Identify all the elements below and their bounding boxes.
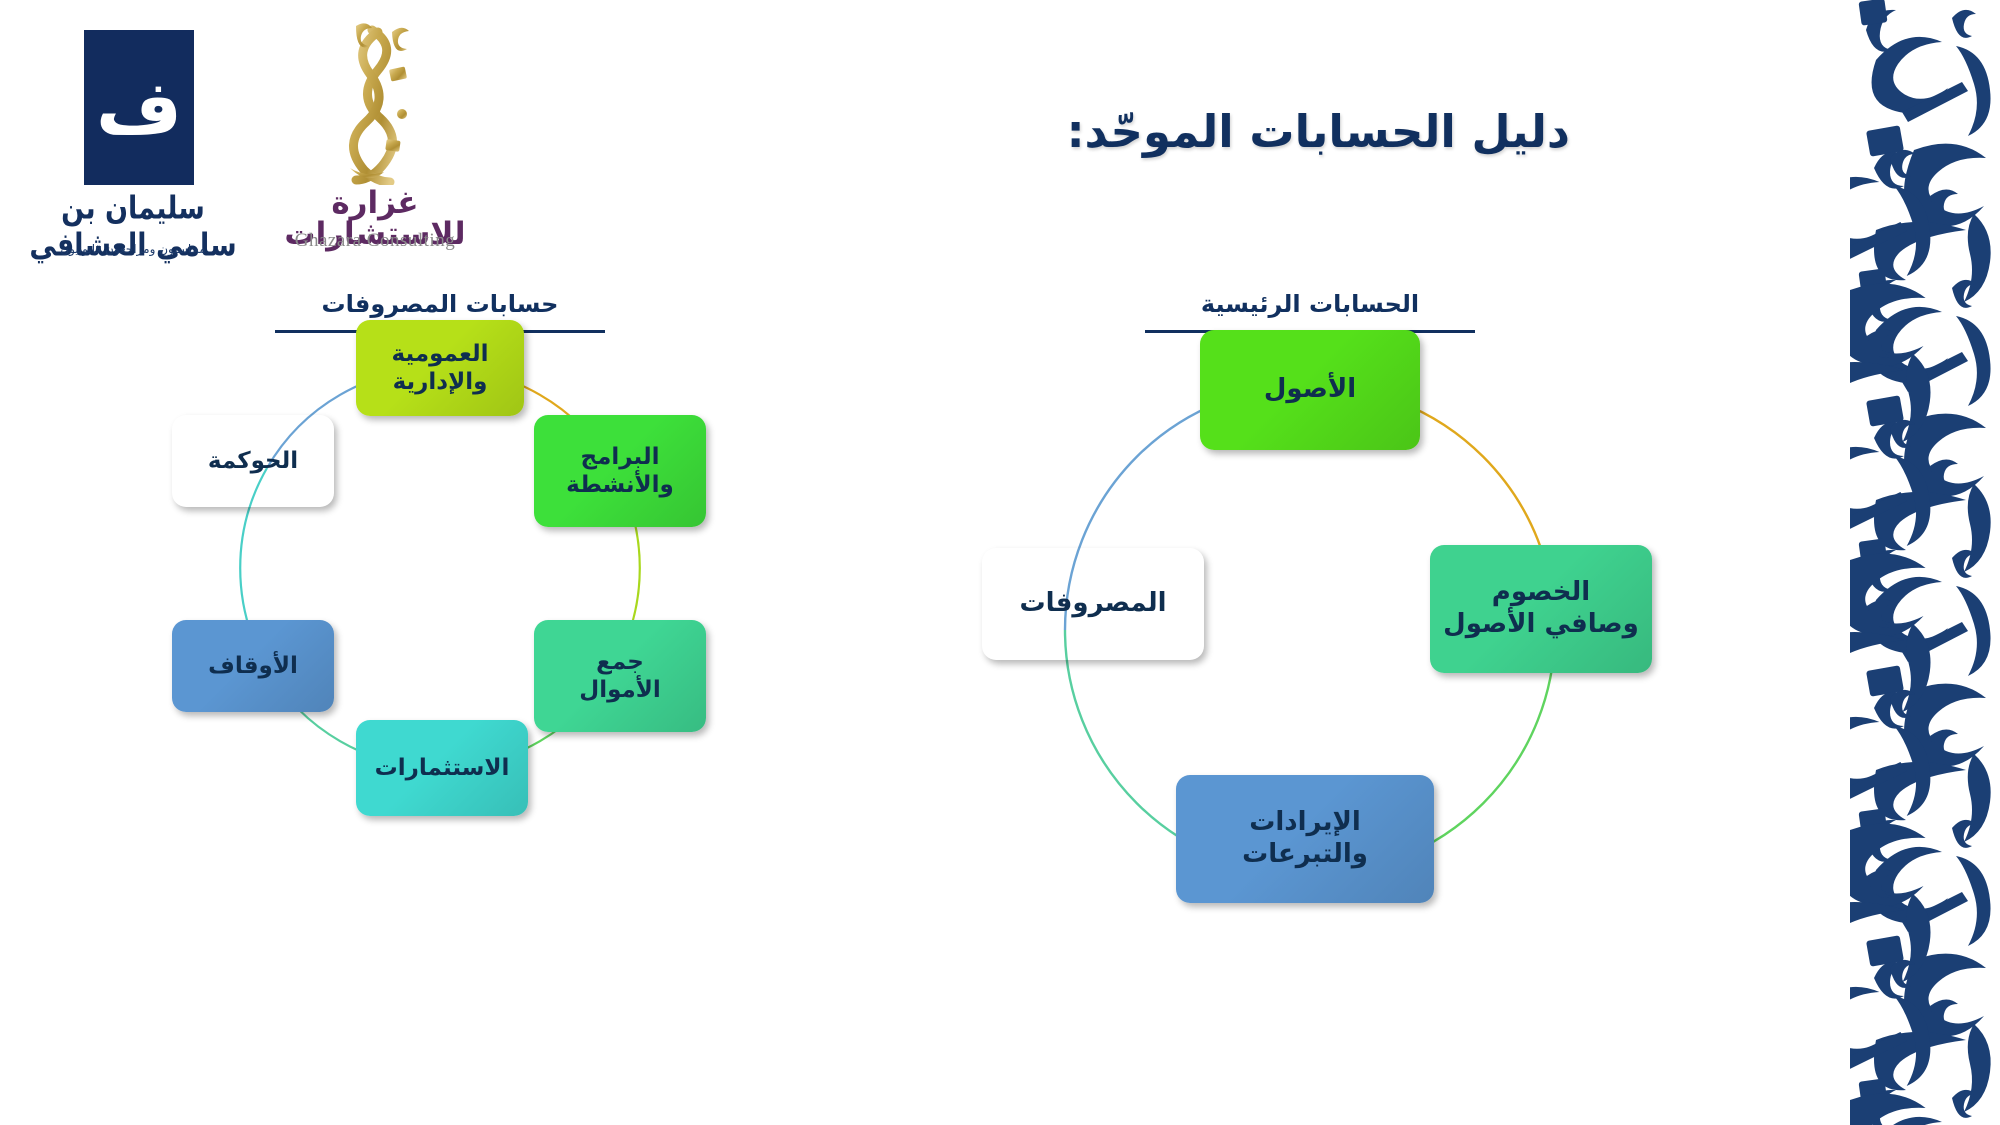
page-title: دليل الحسابات الموحّد: [1067,105,1570,158]
diagram-expense-accounts-header-text: حسابات المصروفات [322,290,559,324]
node-endowments-label: الأوقاف [208,652,298,680]
al-ashafi-name-subtitle: محاسبون ومراجعون قانونيون [18,242,248,256]
decorative-calligraphy-band [1850,0,2000,1125]
node-liabilities-label: الخصوموصافي الأصول [1443,577,1639,640]
logo-ghazara-consulting: غزارة للاستشارات Ghazara Consulting [250,20,500,280]
node-governance[interactable]: الحوكمة [172,415,334,507]
diagram-main-accounts: الحسابات الرئيسية الأصول الخصوموصافي الأ… [950,290,1670,930]
node-programs-label: البرامجوالأنشطة [566,443,674,499]
diagram-main-accounts-header-text: الحسابات الرئيسية [1201,290,1419,324]
node-fundraising-label: جمعالأموال [579,648,661,704]
node-fundraising[interactable]: جمعالأموال [534,620,706,732]
node-assets-label: الأصول [1264,374,1356,406]
node-investments[interactable]: الاستثمارات [356,720,528,816]
node-expenses[interactable]: المصروفات [982,548,1204,660]
node-investments-label: الاستثمارات [375,754,510,782]
al-ashafi-logo-mark: ف [84,30,194,185]
diagram-expense-accounts: حسابات المصروفات العموميةوالإدارية البرا… [130,290,750,930]
node-programs[interactable]: البرامجوالأنشطة [534,415,706,527]
calligraphy-pattern-svg [1850,0,2000,1125]
ghazara-emblem-svg [310,20,440,185]
node-expenses-label: المصروفات [1020,588,1167,620]
node-liabilities[interactable]: الخصوموصافي الأصول [1430,545,1652,673]
node-governance-label: الحوكمة [208,447,298,475]
node-revenues[interactable]: الإيراداتوالتبرعات [1176,775,1434,903]
ghazara-name-english: Ghazara Consulting [250,230,500,252]
diagram-main-accounts-header: الحسابات الرئيسية [950,290,1670,333]
logo-al-ashafi: ف سليمان بن سامي العشافي محاسبون ومراجعو… [18,18,248,293]
node-endowments[interactable]: الأوقاف [172,620,334,712]
node-general-admin-label: العموميةوالإدارية [392,340,489,396]
node-general-admin[interactable]: العموميةوالإدارية [356,320,524,416]
al-ashafi-mark-glyph: ف [84,30,194,185]
node-revenues-label: الإيراداتوالتبرعات [1242,807,1368,870]
node-assets[interactable]: الأصول [1200,330,1420,450]
ghazara-emblem [310,20,440,185]
